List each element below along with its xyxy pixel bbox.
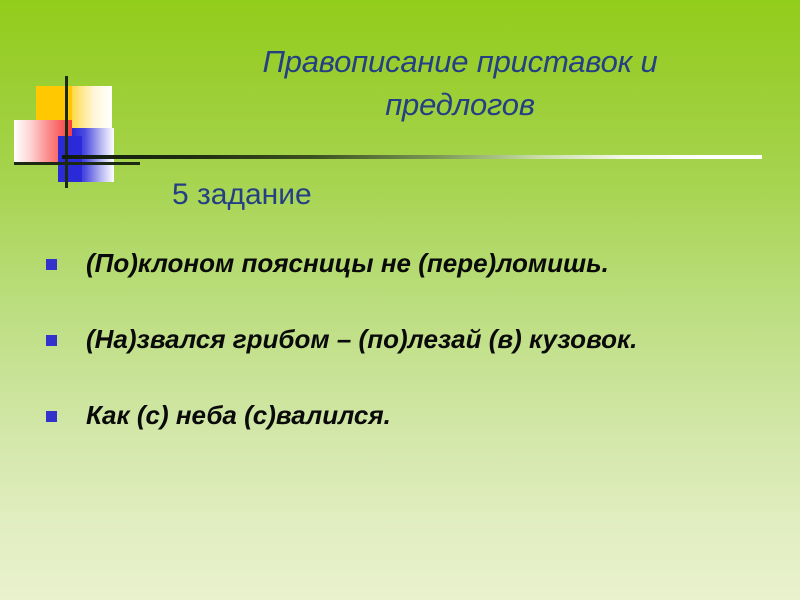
list-item-label: (По)клоном поясницы не (пере)ломишь. [86,246,758,280]
presentation-slide: Правописание приставок и предлогов 5 зад… [0,0,800,600]
blue-square-lower-icon [58,136,82,182]
list-item-label: (На)звался грибом – (по)лезай (в) кузово… [86,322,758,356]
bullet-square-icon [46,259,57,270]
title-divider-line [62,155,762,159]
list-item: (По)клоном поясницы не (пере)ломишь. [38,246,758,280]
list-item-label: Как (с) неба (с)валился. [86,398,758,432]
bullet-square-icon [46,335,57,346]
list-item: (На)звался грибом – (по)лезай (в) кузово… [38,322,758,356]
crosshair-horizontal-line [14,162,140,165]
crosshair-vertical-line [65,76,68,188]
bullet-square-icon [46,411,57,422]
list-item: Как (с) неба (с)валился. [38,398,758,432]
decorative-squares-logo [14,76,126,188]
bullet-list: (По)клоном поясницы не (пере)ломишь. (На… [38,246,758,432]
slide-title: Правописание приставок и предлогов [150,40,770,126]
slide-title-line-2: предлогов [150,83,770,126]
slide-subtitle: 5 задание [172,176,312,214]
slide-title-line-1: Правописание приставок и [150,40,770,83]
